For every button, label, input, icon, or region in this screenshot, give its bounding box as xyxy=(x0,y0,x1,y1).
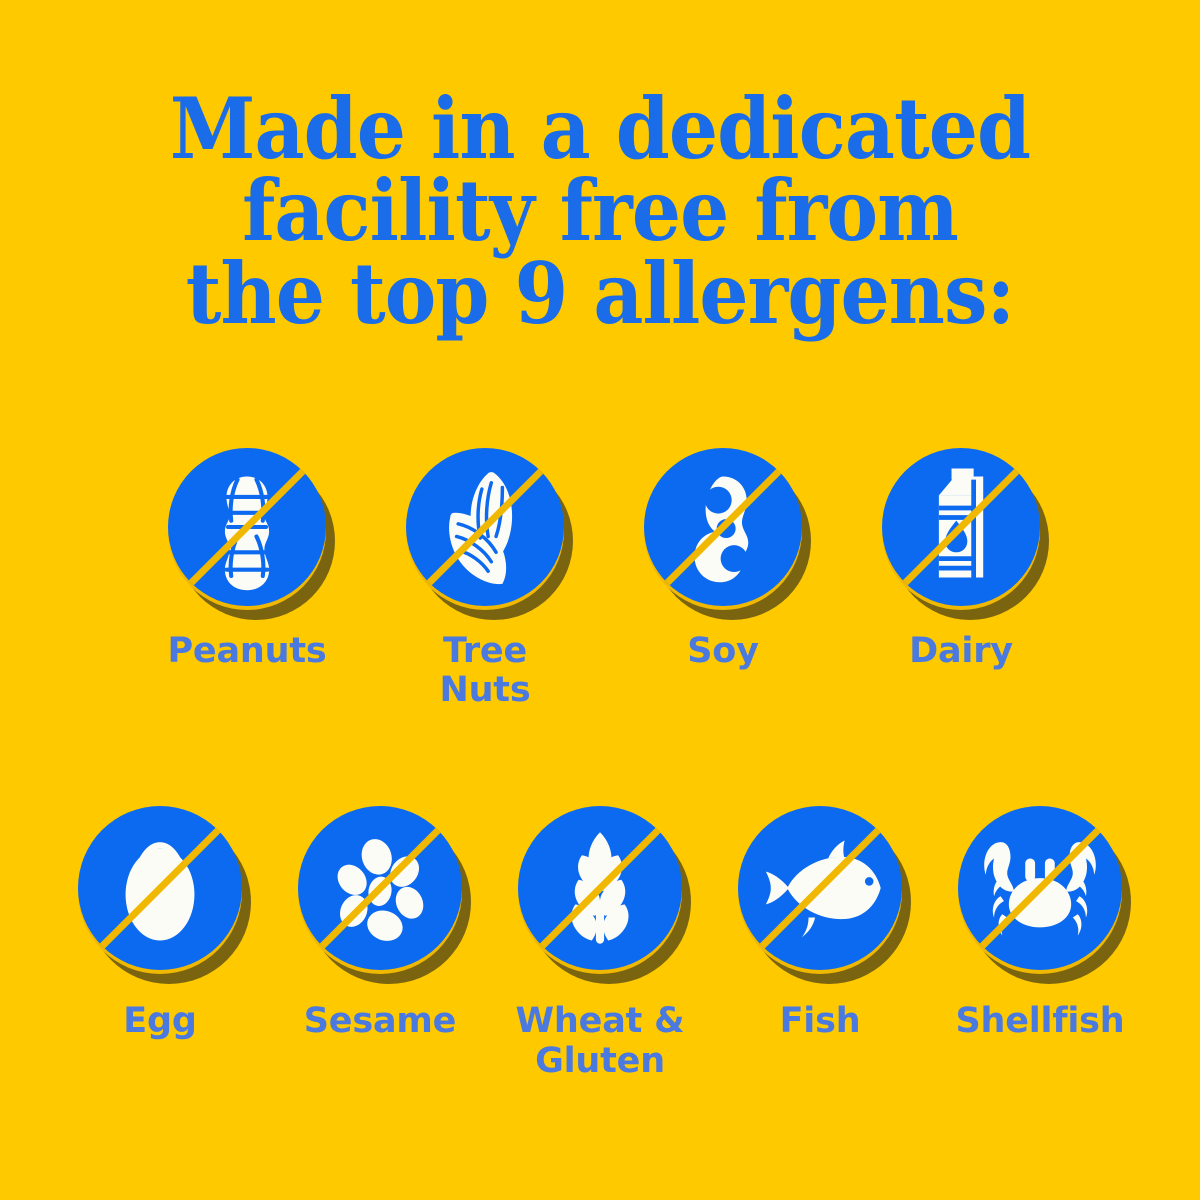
sesame-seeds-icon xyxy=(298,806,462,970)
disc-blue-face xyxy=(644,448,802,606)
allergen-badge-egg: Egg xyxy=(75,810,245,1041)
fish-icon xyxy=(738,806,902,970)
allergen-row-top: Peanuts xyxy=(0,452,1200,710)
allergen-badge-dairy: Dairy xyxy=(876,452,1046,671)
disc-blue-face xyxy=(518,806,682,970)
disc-blue-face xyxy=(406,448,564,606)
allergen-badge-peanuts: Peanuts xyxy=(162,452,332,671)
allergen-badge-soy: Soy xyxy=(638,452,808,671)
no-dairy-disc xyxy=(882,452,1040,610)
disc-blue-face xyxy=(738,806,902,970)
wheat-stalk-icon xyxy=(518,806,682,970)
disc-blue-face xyxy=(168,448,326,606)
no-egg-disc xyxy=(78,810,242,974)
allergen-label: Dairy xyxy=(909,632,1013,671)
allergen-badge-sesame: Sesame xyxy=(295,810,465,1041)
allergen-badge-wheat-gluten: Wheat & Gluten xyxy=(515,810,685,1080)
allergen-badge-tree-nuts: Tree Nuts xyxy=(400,452,570,710)
allergen-label: Fish xyxy=(780,1002,861,1041)
soybean-pod-icon xyxy=(644,448,802,606)
allergen-row-bottom: Egg xyxy=(0,810,1200,1080)
allergen-label: Tree Nuts xyxy=(400,632,570,710)
no-peanuts-disc xyxy=(168,452,326,610)
allergen-free-graphic: { "theme": { "background": "#FFC900", "h… xyxy=(0,0,1200,1200)
allergen-label: Wheat & Gluten xyxy=(516,1002,685,1080)
no-wheat-disc xyxy=(518,810,682,974)
peanut-icon xyxy=(168,448,326,606)
egg-icon xyxy=(78,806,242,970)
title-line-3: the top 9 allergens: xyxy=(48,253,1152,335)
fish-eye xyxy=(865,878,874,887)
allergen-badge-fish: Fish xyxy=(735,810,905,1041)
title-line-1: Made in a dedicated xyxy=(48,88,1152,170)
allergen-badge-shellfish: Shellfish xyxy=(955,810,1125,1041)
no-sesame-disc xyxy=(298,810,462,974)
allergen-label: Egg xyxy=(123,1002,196,1041)
disc-blue-face xyxy=(882,448,1040,606)
milk-carton-icon xyxy=(882,448,1040,606)
almond-icon xyxy=(406,448,564,606)
allergen-badge-grid: Peanuts xyxy=(0,452,1200,1081)
page-title: Made in a dedicated facility free from t… xyxy=(48,88,1152,335)
no-soy-disc xyxy=(644,452,802,610)
crab-icon xyxy=(958,806,1122,970)
no-fish-disc xyxy=(738,810,902,974)
disc-blue-face xyxy=(298,806,462,970)
title-line-2: facility free from xyxy=(48,170,1152,252)
allergen-label: Soy xyxy=(687,632,758,671)
allergen-label: Peanuts xyxy=(167,632,326,671)
no-shellfish-disc xyxy=(958,810,1122,974)
disc-blue-face xyxy=(958,806,1122,970)
allergen-label: Shellfish xyxy=(955,1002,1124,1041)
sesame-seed-cluster xyxy=(332,835,429,946)
disc-blue-face xyxy=(78,806,242,970)
no-tree-nuts-disc xyxy=(406,452,564,610)
allergen-label: Sesame xyxy=(304,1002,456,1041)
